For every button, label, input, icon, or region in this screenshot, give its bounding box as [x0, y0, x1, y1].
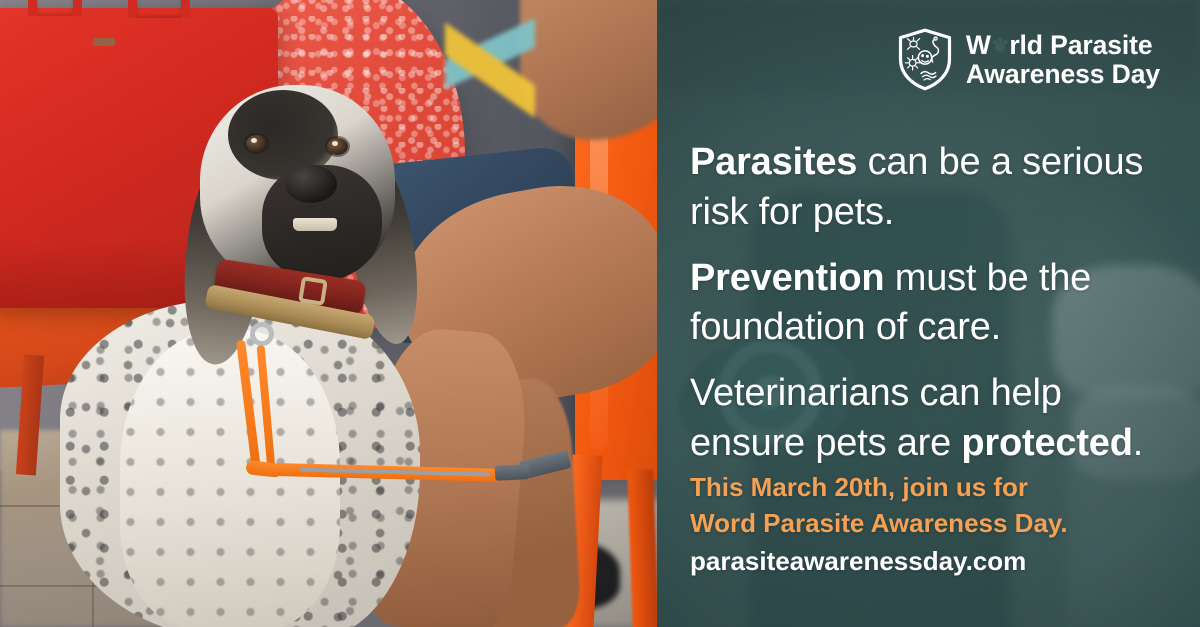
awareness-day-banner: Wrld Parasite Awareness Day Parasites ca… [0, 0, 1200, 627]
parasite-shield-icon [897, 28, 953, 91]
logo-line-2: Awareness Day [966, 60, 1160, 89]
logo-wordmark: Wrld Parasite Awareness Day [966, 31, 1160, 88]
headline-paragraph-3: Veterinarians can help ensure pets are p… [690, 369, 1160, 469]
eye-highlight [332, 141, 338, 146]
message-panel: Wrld Parasite Awareness Day Parasites ca… [657, 0, 1200, 627]
person-arm [520, 0, 658, 140]
logo-w: W [966, 30, 991, 60]
collar-d-ring [250, 322, 274, 346]
dog-nose [285, 165, 337, 203]
headline-paragraph-1: Parasites can be a serious risk for pets… [690, 138, 1160, 238]
headline-bold-parasites: Parasites [690, 141, 857, 183]
dog-chest [120, 330, 340, 627]
headline-bold-protected: protected [961, 422, 1132, 464]
collar-buckle [298, 276, 328, 306]
sweater-graphic-print [445, 12, 535, 142]
logo-lockup[interactable]: Wrld Parasite Awareness Day [897, 28, 1160, 91]
logo-line-1-rest: rld Parasite [1009, 30, 1152, 60]
headline-paragraph-2: Prevention must be the foundation of car… [690, 254, 1160, 354]
cta-block: This March 20th, join us for Word Parasi… [690, 470, 1160, 580]
headline-period: . [1133, 422, 1143, 464]
leash-clip-body [495, 464, 530, 481]
headline-block: Parasites can be a serious risk for pets… [690, 138, 1160, 469]
orange-chair-leg [627, 470, 658, 627]
bag-handle [28, 0, 82, 16]
logo-line-1: Wrld Parasite [966, 31, 1160, 60]
dog-eye-left [246, 135, 267, 152]
bag-handle [128, 0, 190, 18]
bag-logo-plate [93, 38, 115, 46]
eye-highlight [251, 138, 257, 143]
cta-date-line-2: Word Parasite Awareness Day. [690, 506, 1160, 542]
headline-bold-prevention: Prevention [690, 257, 884, 299]
dog-eye-right [327, 138, 348, 155]
hero-photo [0, 0, 658, 627]
dog-teeth [293, 218, 337, 231]
cta-website-url[interactable]: parasiteawarenessday.com [690, 544, 1160, 580]
paw-print-icon [991, 36, 1010, 55]
cta-date-line-1: This March 20th, join us for [690, 470, 1160, 506]
